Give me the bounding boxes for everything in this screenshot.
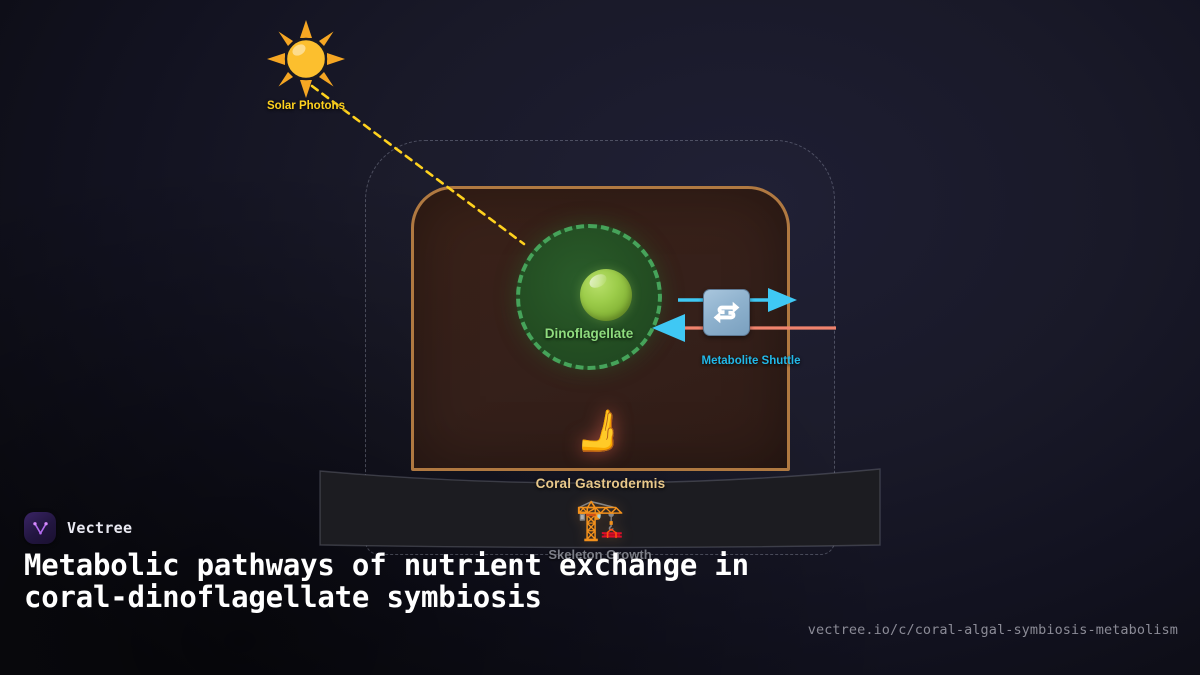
- brand-block: Vectree: [24, 512, 132, 544]
- coral-icon: 🫸: [411, 410, 790, 452]
- source-url: vectree.io/c/coral-algal-symbiosis-metab…: [808, 622, 1178, 638]
- solar-photons-label: Solar Photons: [225, 100, 387, 112]
- sun-icon: [265, 18, 347, 100]
- construction-crane-icon: 🏗️: [0, 500, 1200, 540]
- vectree-v-logo-icon: [24, 512, 56, 544]
- exchange-arrows-icon: [710, 296, 743, 329]
- metabolite-shuttle-transporter[interactable]: [703, 289, 750, 336]
- brand-name: Vectree: [67, 519, 132, 537]
- gastrodermis-label: Coral Gastrodermis: [411, 476, 790, 491]
- dinoflagellate-chloroplast-icon: [580, 269, 632, 321]
- metabolite-shuttle-label: Metabolite Shuttle: [640, 355, 862, 367]
- dinoflagellate-label: Dinoflagellate: [516, 326, 662, 341]
- page-title: Metabolic pathways of nutrient exchange …: [24, 549, 764, 613]
